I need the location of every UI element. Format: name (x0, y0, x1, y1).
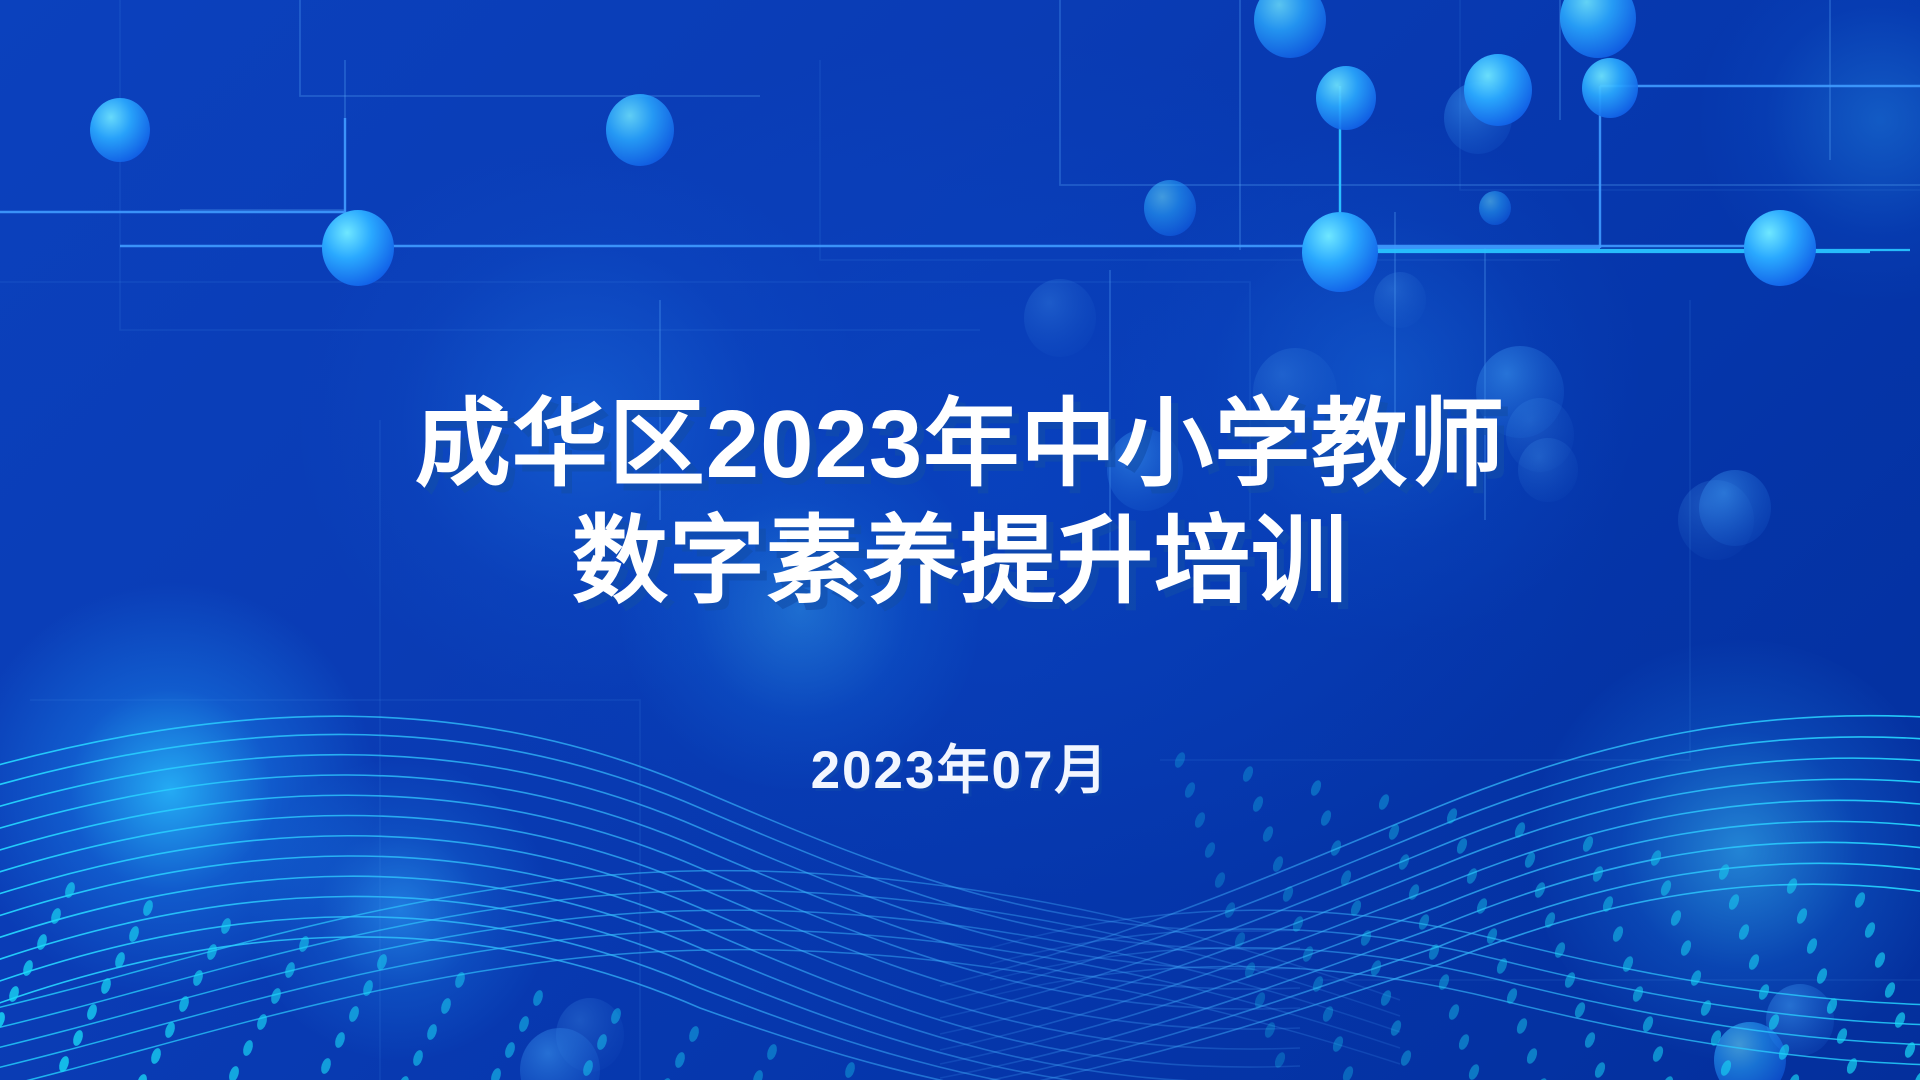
slide-date: 2023年07月 (811, 728, 1110, 804)
slide-content: 成华区2023年中小学教师 数字素养提升培训 2023年07月 (0, 0, 1920, 1080)
presentation-title-slide: 成华区2023年中小学教师 数字素养提升培训 2023年07月 (0, 0, 1920, 1080)
page-title: 成华区2023年中小学教师 数字素养提升培训 (415, 386, 1506, 620)
title-line-1: 成华区2023年中小学教师 (415, 386, 1506, 503)
title-line-2: 数字素养提升培训 (415, 503, 1506, 620)
